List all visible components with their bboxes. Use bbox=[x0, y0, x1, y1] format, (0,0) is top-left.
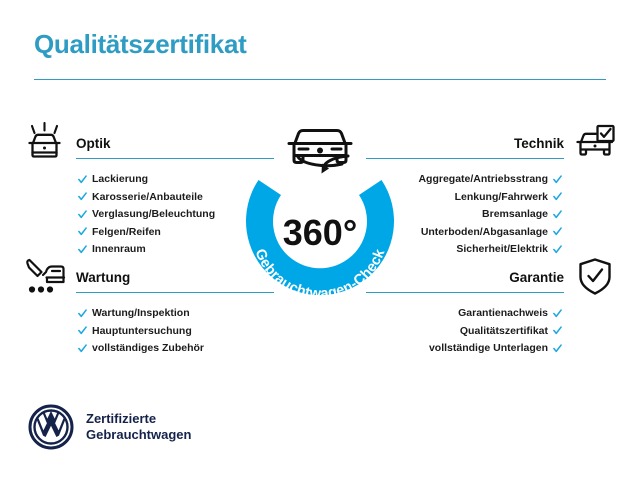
list-item: vollständige Unterlagen bbox=[366, 343, 562, 354]
list-item-label: Unterboden/Abgasanlage bbox=[421, 227, 548, 238]
check-icon bbox=[78, 175, 87, 184]
certificate-page: Qualitätszertifikat Optik bbox=[0, 0, 640, 480]
list-item-label: Hauptuntersuchung bbox=[92, 326, 192, 337]
check-icon bbox=[553, 192, 562, 201]
check-icon bbox=[553, 309, 562, 318]
list-item-label: Bremsanlage bbox=[482, 209, 548, 220]
list-item-label: Wartung/Inspektion bbox=[92, 308, 190, 319]
section-garantie-list: Garantienachweis Qualitätszertifikat vol… bbox=[366, 308, 618, 354]
list-item-label: Sicherheit/Elektrik bbox=[456, 244, 548, 255]
title-divider bbox=[34, 79, 606, 81]
car-shine-icon bbox=[22, 122, 68, 164]
list-item-label: Innenraum bbox=[92, 244, 146, 255]
title-block: Qualitätszertifikat bbox=[34, 30, 606, 80]
list-item: Wartung/Inspektion bbox=[78, 308, 274, 319]
list-item-label: Qualitätszertifikat bbox=[460, 326, 548, 337]
check-icon bbox=[78, 227, 87, 236]
check-icon bbox=[553, 245, 562, 254]
center-badge: 360° Gebrauchtwagen-Check bbox=[228, 112, 412, 308]
list-item: Hauptuntersuchung bbox=[78, 326, 274, 337]
vw-logo-icon bbox=[28, 404, 74, 450]
car-checkbox-icon bbox=[572, 122, 618, 164]
check-icon bbox=[78, 245, 87, 254]
badge-360-graphic: 360° Gebrauchtwagen-Check bbox=[228, 112, 412, 308]
brand-lockup: Zertifizierte Gebrauchtwagen bbox=[28, 404, 191, 450]
list-item-label: Aggregate/Antriebsstrang bbox=[418, 174, 548, 185]
check-icon bbox=[553, 344, 562, 353]
badge-value: 360° bbox=[283, 212, 357, 253]
list-item-label: vollständiges Zubehör bbox=[92, 343, 204, 354]
section-wartung-list: Wartung/Inspektion Hauptuntersuchung vol… bbox=[22, 308, 274, 354]
list-item-label: Lackierung bbox=[92, 174, 148, 185]
shield-check-icon bbox=[572, 256, 618, 298]
list-item-label: vollständige Unterlagen bbox=[429, 343, 548, 354]
check-icon bbox=[78, 326, 87, 335]
list-item-label: Garantienachweis bbox=[458, 308, 548, 319]
list-item: Garantienachweis bbox=[366, 308, 562, 319]
check-icon bbox=[78, 309, 87, 318]
list-item-label: Karosserie/Anbauteile bbox=[92, 192, 203, 203]
check-icon bbox=[553, 326, 562, 335]
car-rotation-icon bbox=[289, 131, 351, 174]
list-item-label: Lenkung/Fahrwerk bbox=[455, 192, 548, 203]
list-item: vollständiges Zubehör bbox=[78, 343, 274, 354]
check-icon bbox=[553, 210, 562, 219]
check-icon bbox=[553, 175, 562, 184]
wrench-car-icon bbox=[22, 256, 68, 298]
list-item-label: Verglasung/Beleuchtung bbox=[92, 209, 215, 220]
list-item: Qualitätszertifikat bbox=[366, 326, 562, 337]
check-icon bbox=[78, 344, 87, 353]
list-item-label: Felgen/Reifen bbox=[92, 227, 161, 238]
brand-text: Zertifizierte Gebrauchtwagen bbox=[86, 411, 191, 444]
check-icon bbox=[78, 210, 87, 219]
check-icon bbox=[78, 192, 87, 201]
page-title: Qualitätszertifikat bbox=[34, 30, 606, 59]
check-icon bbox=[553, 227, 562, 236]
